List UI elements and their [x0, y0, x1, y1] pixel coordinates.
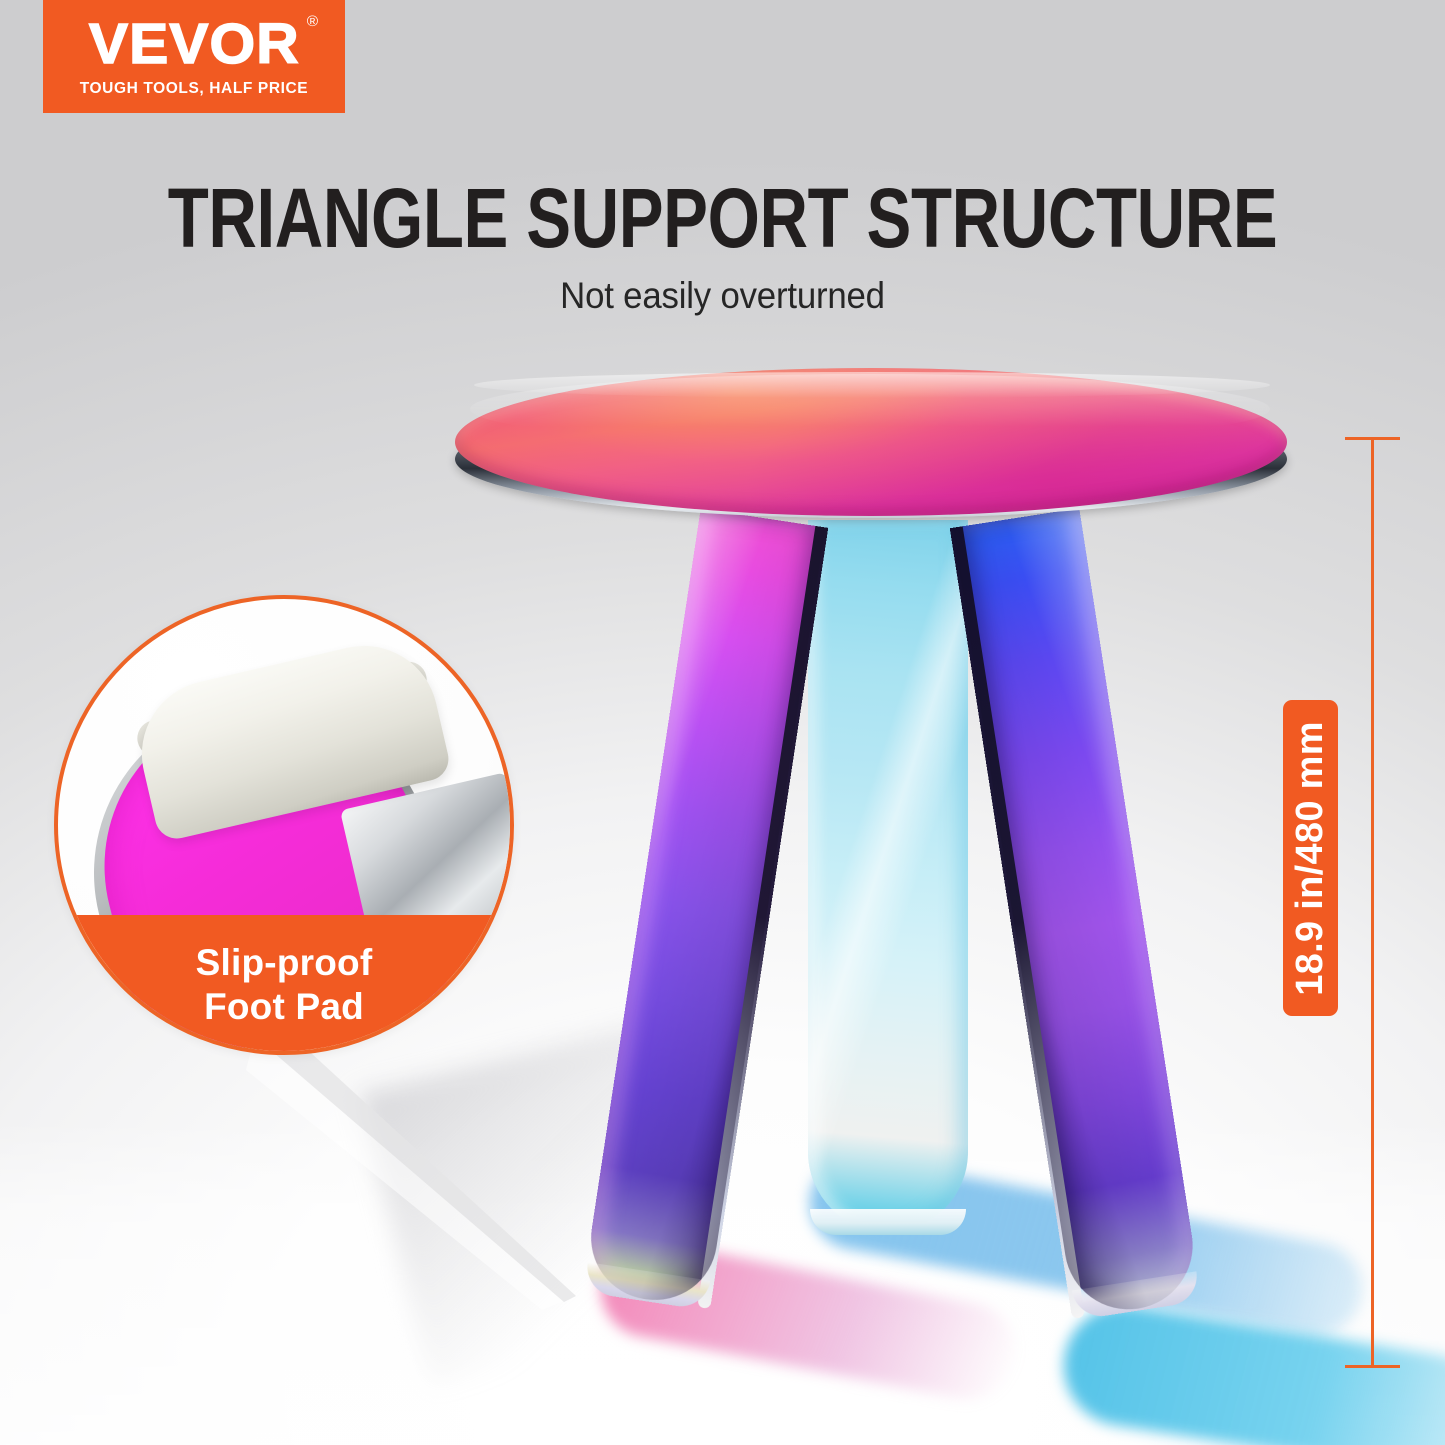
- dimension-line: [1371, 438, 1374, 1368]
- dimension-label: 18.9 in/480 mm: [1289, 721, 1332, 996]
- callout-banner: Slip-proof Foot Pad: [58, 915, 510, 1051]
- brand-name: VEVOR: [89, 12, 300, 76]
- foot-pad-center: [810, 1209, 966, 1235]
- dimension-cap-bottom: [1345, 1365, 1400, 1368]
- callout-label-line1: Slip-proof: [196, 941, 373, 985]
- brand-tagline: TOUGH TOOLS, HALF PRICE: [80, 80, 309, 98]
- slip-proof-foot-pad-callout: Slip-proof Foot Pad: [54, 595, 514, 1055]
- registered-mark-icon: ®: [306, 14, 318, 29]
- table-leg-left: [583, 509, 826, 1309]
- callout-label-line2: Foot Pad: [204, 985, 364, 1029]
- vevor-logo-badge: VEVOR ® TOUGH TOOLS, HALF PRICE: [43, 0, 345, 113]
- page-title: TRIANGLE SUPPORT STRUCTURE: [145, 176, 1301, 260]
- callout-fade: [58, 859, 510, 919]
- brand-wordmark: VEVOR ®: [89, 16, 300, 73]
- table-top-surface: [455, 368, 1287, 516]
- dimension-badge: 18.9 in/480 mm: [1283, 700, 1338, 1016]
- page-subtitle: Not easily overturned: [43, 275, 1401, 317]
- poster-canvas: VEVOR ® TOUGH TOOLS, HALF PRICE TRIANGLE…: [0, 0, 1445, 1445]
- table-leg-center: [808, 520, 968, 1232]
